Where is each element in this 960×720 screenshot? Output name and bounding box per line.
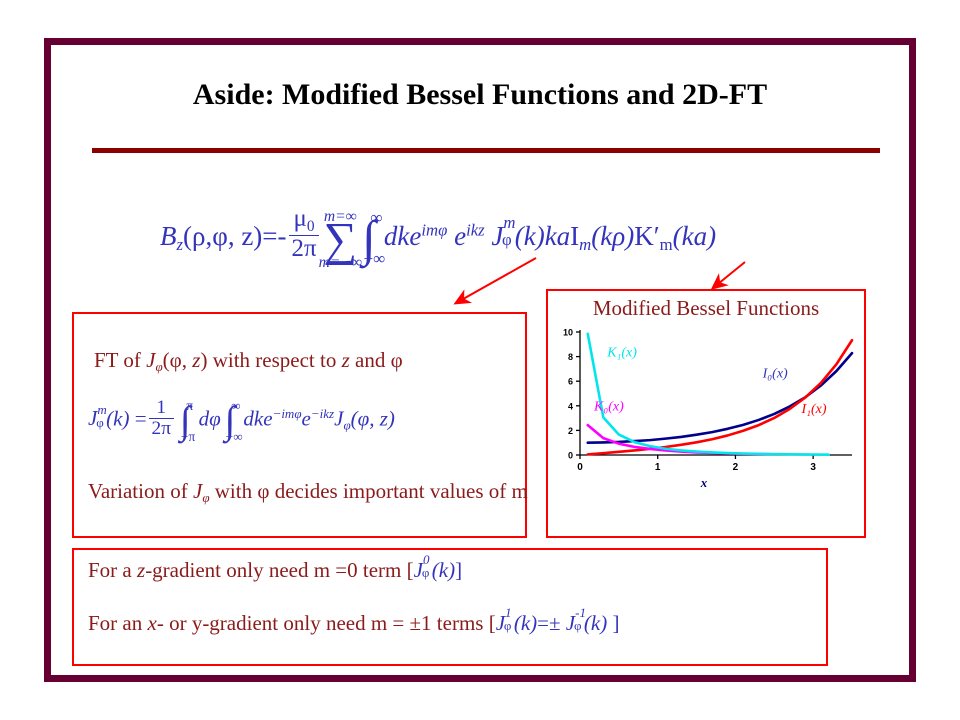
xy-gradient-line: For an x- or y-gradient only need m = ±1… — [88, 611, 619, 636]
eq-ka: ka — [545, 221, 570, 251]
ft-J-sub: φ — [155, 359, 162, 374]
int-upper-limit: ∞ — [370, 209, 382, 226]
xygrad-J1-term: J1φ — [496, 611, 505, 636]
xygrad-text-c: ] — [607, 611, 619, 635]
fteq-Jr-arg: (φ, z) — [351, 406, 395, 430]
fteq-den: 2π — [149, 419, 174, 439]
svg-text:1: 1 — [655, 462, 661, 473]
integral-symbol: ∞∫−∞ — [362, 214, 376, 264]
eq-B: B — [160, 221, 177, 251]
fteq-exp1: e — [263, 406, 272, 430]
svg-text:6: 6 — [568, 377, 573, 387]
svg-text:4: 4 — [568, 401, 573, 411]
svg-text:8: 8 — [568, 352, 573, 362]
svg-text:2: 2 — [733, 462, 739, 473]
eq-dk: dk — [384, 221, 409, 251]
zgrad-J-arg: (k) — [432, 558, 455, 582]
eq-J-arg: (k) — [515, 221, 545, 251]
zgrad-z: z — [137, 558, 145, 582]
xygrad-J1-sub: φ — [504, 618, 512, 634]
fteq-one-over-2pi: 12π — [149, 398, 174, 439]
variation-text-a: Variation of — [88, 479, 193, 503]
eq-mu-sub: 0 — [307, 218, 315, 235]
fteq-integral-1: π∫−π — [180, 402, 191, 441]
eq-B-args: (ρ,φ, z) — [183, 221, 262, 251]
int-lower-limit: −∞ — [364, 250, 386, 267]
xygrad-equals: = — [537, 611, 549, 635]
ft-text-c: ) with respect to — [200, 348, 341, 372]
fteq-dk: dk — [243, 406, 263, 430]
bessel-functions-chart: 02468100123 K₁(x)K₀(x)I₀(x)I₁(x) x — [552, 322, 860, 492]
fteq-int1-top: π — [186, 399, 193, 412]
fteq-J-term: Jmφ — [88, 408, 97, 429]
eq-J-sub: φ — [502, 232, 512, 249]
eq-I-sub: m — [579, 235, 591, 254]
slide-canvas: Aside: Modified Bessel Functions and 2D-… — [0, 0, 960, 720]
fteq-dphi: dφ — [199, 406, 221, 430]
ft-text-b: (φ, — [163, 348, 193, 372]
svg-text:0: 0 — [568, 451, 573, 461]
svg-text:0: 0 — [577, 462, 583, 473]
title-divider — [92, 148, 880, 153]
fteq-int1-bot: −π — [181, 430, 195, 443]
xygrad-J2-arg: (k) — [584, 611, 607, 635]
fteq-J-arg: (k) — [106, 406, 129, 430]
chart-x-axis-label: x — [700, 475, 708, 490]
zgrad-J-term: J0φ — [414, 558, 423, 583]
svg-text:10: 10 — [563, 328, 573, 338]
variation-text-b: with φ decides important values of m — [210, 479, 528, 503]
fteq-int2-top: ∞ — [231, 399, 240, 412]
svg-text:3: 3 — [810, 462, 816, 473]
eq-K-arg: (ka) — [673, 221, 716, 251]
sum-upper-limit: m=∞ — [324, 209, 357, 225]
series-label: K₀(x) — [593, 400, 624, 415]
variation-J: J — [193, 479, 202, 503]
xygrad-J2-term: J-1φ — [566, 611, 575, 636]
eq-mu0-over-2pi: μ02π — [289, 206, 320, 262]
eq-exp2: e — [454, 221, 466, 251]
fteq-num: 1 — [149, 398, 174, 419]
fteq-J-sup: m — [97, 403, 106, 416]
series-label: I₁(x) — [800, 402, 826, 417]
eq-exp1-power: imφ — [421, 221, 447, 240]
ft-equation: Jmφ(k) =12ππ∫−πdφ∞∫−∞dke−imφe−ikzJφ(φ, z… — [88, 398, 395, 441]
svg-text:2: 2 — [568, 426, 573, 436]
variation-J-sub: φ — [202, 490, 209, 505]
sum-lower-limit: m=−∞ — [319, 255, 362, 271]
ft-text-d: and φ — [350, 348, 403, 372]
fteq-integral-2: ∞∫−∞ — [225, 402, 236, 441]
fteq-Jr-sub: φ — [343, 418, 350, 433]
eq-mu: μ — [294, 205, 307, 232]
fteq-equals: = — [135, 406, 147, 430]
chart-title: Modified Bessel Functions — [546, 296, 866, 321]
eq-J-term: Jmφ — [491, 223, 503, 250]
eq-K-sub: m — [660, 235, 673, 254]
eq-equals: = — [262, 221, 277, 251]
zgrad-text-c: ] — [455, 558, 462, 582]
series-label: I₀(x) — [762, 367, 788, 382]
page-title: Aside: Modified Bessel Functions and 2D-… — [60, 78, 900, 112]
fteq-exp2: e — [302, 406, 311, 430]
ft-description-line: FT of Jφ(φ, z) with respect to z and φ — [94, 348, 403, 375]
zgrad-text-a: For a — [88, 558, 137, 582]
zgrad-text-b: -gradient only need m =0 term [ — [145, 558, 413, 582]
summation-symbol: m=∞∑m=−∞ — [323, 217, 357, 264]
ft-text-a: FT of — [94, 348, 146, 372]
z-gradient-line: For a z-gradient only need m =0 term [J0… — [88, 558, 462, 583]
xygrad-pm: ± — [549, 611, 561, 635]
xygrad-J2-sub: φ — [574, 618, 582, 634]
fteq-int2-bot: −∞ — [226, 430, 243, 443]
xygrad-J1-arg: (k) — [514, 611, 537, 635]
variation-note: Variation of Jφ with φ decides important… — [88, 478, 538, 507]
ft-z2: z — [342, 348, 350, 372]
series-label: K₁(x) — [606, 346, 637, 361]
eq-I-arg: (kρ) — [591, 221, 634, 251]
xygrad-x: x — [148, 611, 157, 635]
fteq-exp1-power: −imφ — [273, 406, 302, 421]
eq-2pi: 2π — [289, 236, 320, 262]
main-equation: Bz(ρ,φ, z)=-μ02πm=∞∑m=−∞∞∫−∞dkeimφ eikz … — [160, 206, 716, 264]
fteq-exp2-power: −ikz — [311, 406, 334, 421]
eq-minus: - — [278, 221, 287, 251]
xygrad-text-b: - or y-gradient only need m = ±1 terms [ — [157, 611, 496, 635]
eq-I: I — [570, 221, 579, 251]
fteq-J-sub: φ — [96, 416, 104, 429]
eq-exp2-power: ikz — [466, 221, 485, 240]
xygrad-text-a: For an — [88, 611, 148, 635]
zgrad-J-sub: φ — [422, 565, 430, 581]
eq-K: K′ — [634, 221, 659, 251]
eq-exp1: e — [409, 221, 421, 251]
